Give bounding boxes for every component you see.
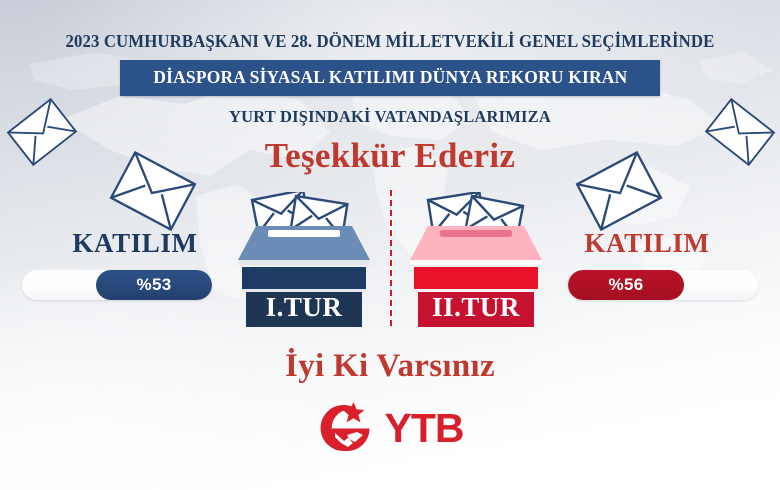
round-divider: [390, 190, 392, 326]
crescent-star-handshake-icon: [317, 399, 379, 457]
banner-box: DİASPORA SİYASAL KATILIMI DÜNYA REKORU K…: [120, 60, 661, 96]
ytb-logo: YTB: [0, 399, 780, 457]
thanks-title: Teşekkür Ederiz: [0, 136, 780, 176]
participation-value-round-2: %56: [609, 275, 644, 295]
ballot-box-round-1: I.TUR: [224, 192, 384, 327]
participation-fill-round-1: %53: [96, 270, 212, 300]
participation-bar-round-2: %56: [568, 270, 758, 300]
ytb-wordmark: YTB: [385, 408, 464, 449]
ballot-box-label-round-2: II.TUR: [396, 292, 556, 323]
participation-label-round-1: KATILIM: [40, 228, 230, 259]
participation-label-round-2: KATILIM: [552, 228, 742, 259]
poster-subline: YURT DIŞINDAKİ VATANDAŞLARIMIZA: [12, 107, 769, 127]
participation-fill-round-2: %56: [568, 270, 684, 300]
banner: DİASPORA SİYASAL KATILIMI DÜNYA REKORU K…: [0, 60, 780, 96]
poster: 2023 CUMHURBAŞKANI VE 28. DÖNEM MİLLETVE…: [0, 0, 780, 490]
ballot-box-round-2: II.TUR: [396, 192, 556, 327]
banner-label: DİASPORA SİYASAL KATILIMI DÜNYA REKORU K…: [153, 67, 627, 88]
ballot-box-label-round-1: I.TUR: [224, 292, 384, 323]
participation-bar-round-1: %53: [22, 270, 212, 300]
closing-title: İyi Ki Varsınız: [0, 348, 780, 385]
poster-headline: 2023 CUMHURBAŞKANI VE 28. DÖNEM MİLLETVE…: [16, 31, 765, 52]
participation-value-round-1: %53: [137, 275, 172, 295]
